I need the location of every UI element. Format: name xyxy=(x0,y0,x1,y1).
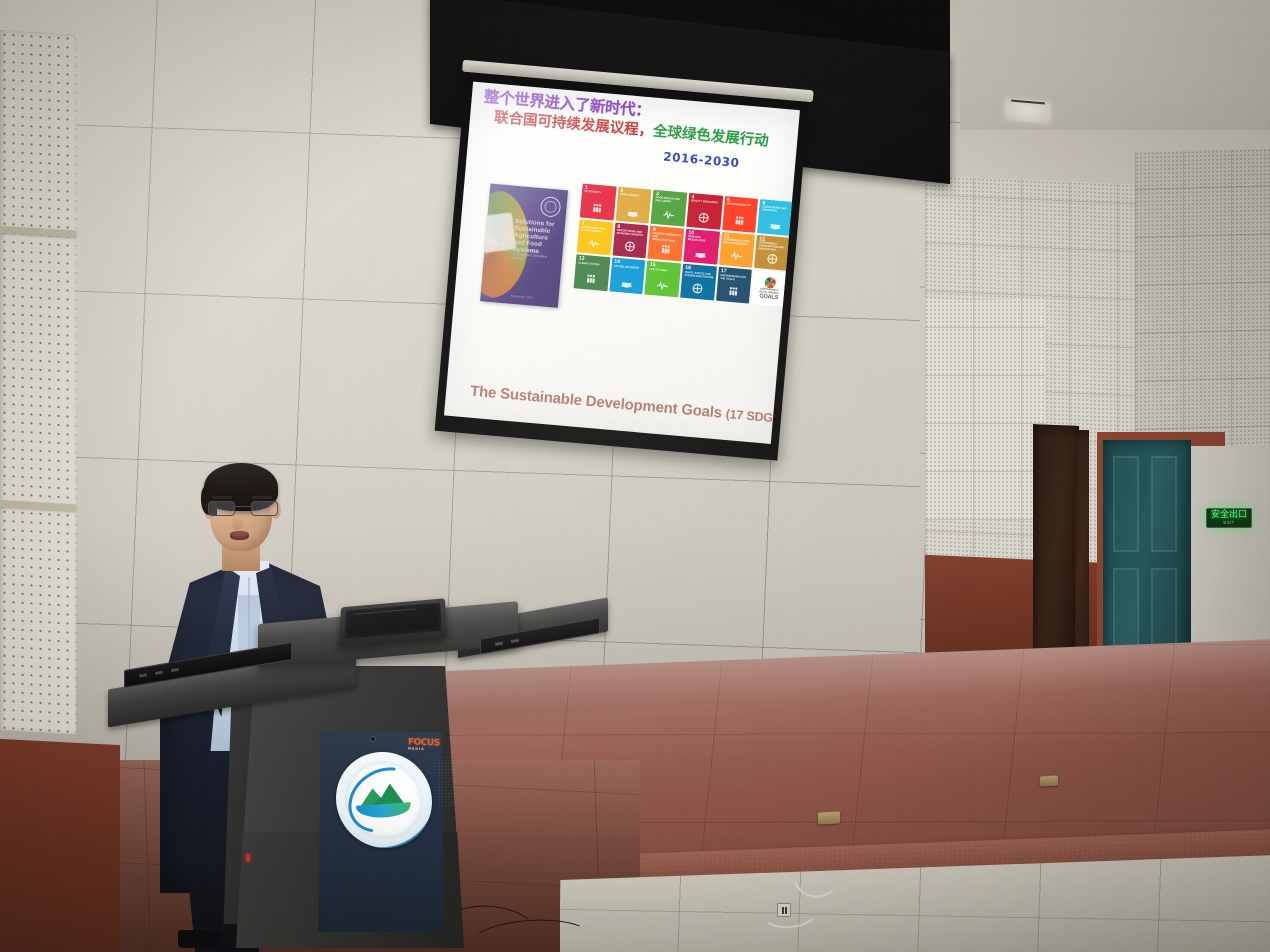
sdg-icon-13: 13CLIMATE ACTION xyxy=(574,255,610,291)
book-footer: September 2013 xyxy=(510,294,554,302)
sdg-icon-9: 9INDUSTRY INNOVATION AND INFRASTRUCTURE xyxy=(648,225,684,261)
sdg-pictogram xyxy=(615,203,650,222)
slide-caption: The Sustainable Development Goals (17 SD… xyxy=(469,383,784,427)
door-panel xyxy=(1113,456,1139,552)
mouth-speaking xyxy=(230,531,249,540)
sdg-pictogram xyxy=(686,210,721,229)
sdg-icon-15: 15LIFE ON LAND xyxy=(645,261,681,297)
screen-canvas: 整个世界进入了新时代： 联合国可持续发展议程，全球绿色发展行动 2016-203… xyxy=(444,82,800,444)
sdg-pictogram xyxy=(680,281,715,300)
sdg-pictogram xyxy=(612,239,647,258)
sdg-icon-2: 2ZERO HUNGER xyxy=(615,187,651,223)
panel-button[interactable] xyxy=(139,673,147,677)
glasses-bridge xyxy=(235,506,251,507)
sdg-pictogram xyxy=(651,206,686,225)
sdg-icon-16: 16PEACE JUSTICE AND STRONG INSTITUTIONS xyxy=(680,264,716,300)
podium-speaker-grille xyxy=(438,756,454,808)
power-led-indicator xyxy=(246,854,250,862)
sdg-pictogram xyxy=(574,271,609,290)
sdg-name: GOOD HEALTH AND WELL-BEING xyxy=(655,197,685,205)
sdg-pictogram xyxy=(645,277,680,296)
sdg-name: LIFE BELOW WATER xyxy=(614,265,643,270)
sdg-icon-10: 10REDUCED INEQUALITIES xyxy=(683,228,719,264)
panel-button[interactable] xyxy=(155,671,163,675)
book-cover-image: Solutions for Sustainable Agriculture an… xyxy=(480,184,568,308)
screen-border: 整个世界进入了新时代： 联合国可持续发展议程，全球绿色发展行动 2016-203… xyxy=(435,72,809,461)
projection-screen: 整个世界进入了新时代： 联合国可持续发展议程，全球绿色发展行动 2016-203… xyxy=(435,72,809,461)
sdg-pictogram xyxy=(716,284,751,303)
slide-subtitle-green: 全球绿色发展行动 xyxy=(652,124,769,150)
sdg-name: REDUCED INEQUALITIES xyxy=(688,236,718,244)
sdg-pictogram xyxy=(577,236,612,255)
sdg-icon-3: 3GOOD HEALTH AND WELL-BEING xyxy=(651,190,687,226)
emblem-label-en: COLLEGE OF RESOURCES AND ENVIRONMENT xyxy=(337,751,431,849)
sdg-icon-1: 1NO POVERTY xyxy=(580,184,616,220)
sdg-name: PEACE JUSTICE AND STRONG INSTITUTIONS xyxy=(684,272,714,280)
sdg-icon-17: 17PARTNERSHIPS FOR THE GOALS xyxy=(716,267,752,303)
sdg-icon-12: 12RESPONSIBLE CONSUMPTION AND PRODUCTION xyxy=(754,235,790,271)
podium-mic-port xyxy=(370,736,376,742)
exit-sign: 安全出口 EXIT xyxy=(1206,508,1252,528)
sdg-icon-grid: 1NO POVERTY2ZERO HUNGER3GOOD HEALTH AND … xyxy=(574,184,794,307)
sdg-icon-6: 6CLEAN WATER AND SANITATION xyxy=(757,199,793,235)
sdg-pictogram xyxy=(580,200,615,219)
perforation-texture xyxy=(925,300,1045,520)
nose xyxy=(232,515,243,530)
un-sdsn-logo-icon xyxy=(540,196,562,218)
slide-years-wrap: 2016-2030 xyxy=(663,149,740,172)
podium-brand-logo: FOCUS MEDIA xyxy=(408,737,440,751)
sdg-wheel-line3: GOALS xyxy=(759,293,778,301)
sdg-name: SUSTAINABLE CITIES AND COMMUNITIES xyxy=(723,239,753,247)
sdg-name: PARTNERSHIPS FOR THE GOALS xyxy=(720,275,750,283)
sdg-name: AFFORDABLE AND CLEAN ENERGY xyxy=(581,227,611,235)
lectern-podium[interactable]: 西南大学资源环境学院 COLLEGE OF RESOURCES AND ENVI… xyxy=(108,596,608,952)
sdg-icon-7: 7AFFORDABLE AND CLEAN ENERGY xyxy=(577,219,613,255)
acoustic-panel-block xyxy=(925,300,1045,520)
eyebrow-right xyxy=(252,496,272,499)
floor-outlet-box xyxy=(1040,776,1058,787)
sdg-pictogram xyxy=(648,242,683,261)
sdg-pictogram xyxy=(758,216,793,235)
sdg-name: QUALITY EDUCATION xyxy=(691,201,720,206)
emblem-char: S xyxy=(378,838,382,843)
exit-sign-label-en: EXIT xyxy=(1223,520,1234,525)
exit-sign-label-cn: 安全出口 xyxy=(1211,511,1247,520)
acoustic-panel-column-left xyxy=(0,30,76,735)
sdg-pictogram xyxy=(719,248,754,267)
sdg-name: CLEAN WATER AND SANITATION xyxy=(762,207,792,215)
panel-button[interactable] xyxy=(495,642,503,646)
sdg-pictogram xyxy=(609,274,644,293)
sdg-icon-14: 14LIFE BELOW WATER xyxy=(609,258,645,294)
eyeglasses xyxy=(208,501,278,517)
perforation-texture xyxy=(0,30,76,735)
sdg-pictogram xyxy=(754,251,789,270)
panel-button[interactable] xyxy=(171,668,179,672)
lens-right xyxy=(251,501,278,516)
slide-caption-paren: (17 SDGs) xyxy=(725,407,784,426)
sdg-pictogram xyxy=(683,245,718,264)
sdg-pictogram xyxy=(722,213,757,232)
panel-button[interactable] xyxy=(511,639,519,643)
wainscot-backwall xyxy=(0,739,120,952)
sdg-icon-11: 11SUSTAINABLE CITIES AND COMMUNITIES xyxy=(719,232,755,268)
lecture-hall-photo: 安全出口 EXIT 整个世界进入了新时代： 联合国可持续发展议程，全球绿色发展行… xyxy=(0,0,1270,952)
sdg-icon-5: 5GENDER EQUALITY xyxy=(722,196,758,232)
sdg-icon-4: 4QUALITY EDUCATION xyxy=(686,193,722,229)
slide-caption-main: The Sustainable Development Goals xyxy=(469,383,722,422)
slide-years: 2016-2030 xyxy=(663,150,740,171)
sdg-wheel-logo: SUSTAINABLEDEVELOPMENTGOALS xyxy=(751,270,787,306)
sdg-name: DECENT WORK AND ECONOMIC GROWTH xyxy=(616,230,646,238)
presentation-slide: 整个世界进入了新时代： 联合国可持续发展议程，全球绿色发展行动 2016-203… xyxy=(444,82,800,444)
monitor-screen xyxy=(344,602,441,639)
door-panel xyxy=(1151,456,1177,552)
eyebrow-left xyxy=(212,496,232,499)
sdg-icon-8: 8DECENT WORK AND ECONOMIC GROWTH xyxy=(612,222,648,258)
lens-left xyxy=(208,501,235,516)
